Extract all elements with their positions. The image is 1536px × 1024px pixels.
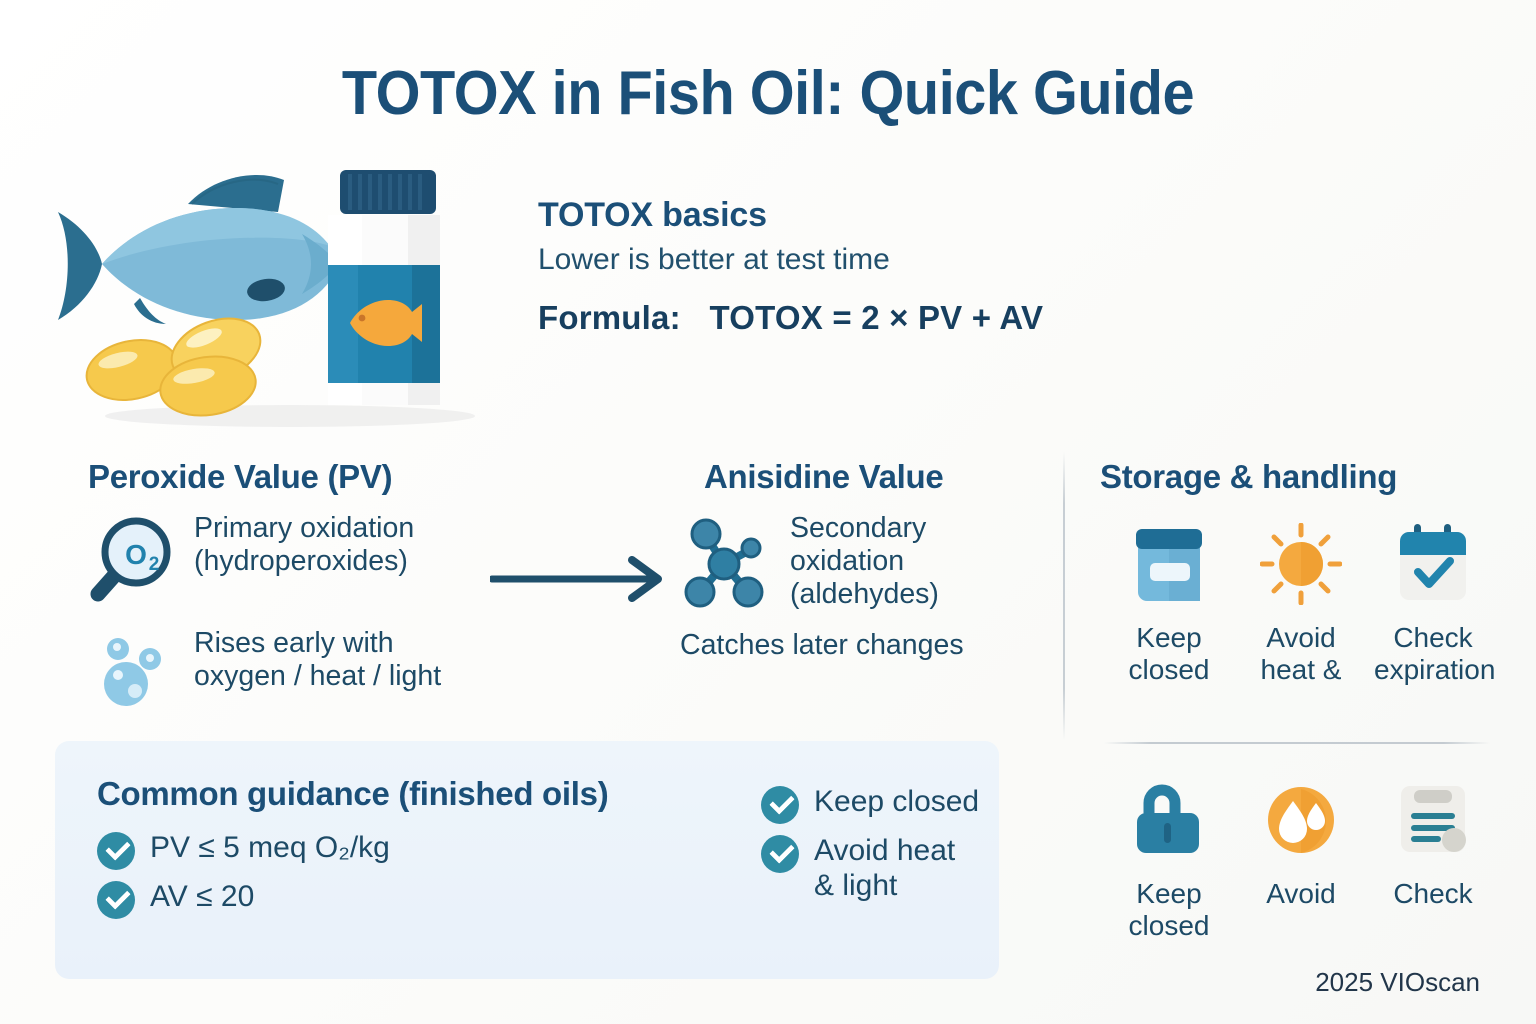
water-drops-icon bbox=[1242, 768, 1360, 872]
storage-item-avoid-moisture: Avoid bbox=[1242, 768, 1360, 942]
check-circle-icon bbox=[761, 835, 799, 873]
formula-expression: TOTOX = 2 × PV + AV bbox=[710, 299, 1044, 336]
softgel-capsules-graphic bbox=[81, 307, 269, 421]
storage-item-check-expiration: Check expiration bbox=[1374, 512, 1492, 686]
av-secondary-oxidation-text: Secondary oxidation (aldehydes) bbox=[790, 512, 939, 611]
guidance-left-list: PV ≤ 5 meq O₂/kg AV ≤ 20 bbox=[97, 829, 390, 927]
lock-icon bbox=[1110, 768, 1228, 872]
pv-text-line1: Primary oxidation bbox=[194, 512, 414, 544]
document-seal-icon bbox=[1374, 768, 1492, 872]
pv-text-line2: (hydroperoxides) bbox=[194, 545, 408, 577]
sun-icon bbox=[1242, 512, 1360, 616]
pv-rises-line2: oxygen / heat / light bbox=[194, 660, 441, 692]
storage-item-keep-closed: Keep closed bbox=[1110, 512, 1228, 686]
guidance-item-avoid-heat-light: Avoid heat & light bbox=[761, 832, 979, 904]
basics-heading: TOTOX basics bbox=[538, 196, 1138, 235]
pv-primary-oxidation-text: Primary oxidation (hydroperoxides) bbox=[194, 512, 414, 578]
formula-line: Formula: TOTOX = 2 × PV + AV bbox=[538, 299, 1138, 337]
pv-row-rises-early: Rises early with oxygen / heat / light bbox=[88, 627, 488, 712]
av-text-line1: Secondary bbox=[790, 512, 926, 544]
storage-item-label: Avoid heat & bbox=[1242, 622, 1360, 686]
guidance-heading: Common guidance (finished oils) bbox=[97, 775, 608, 813]
anisidine-value-column: Anisidine Value Se bbox=[680, 458, 1040, 662]
pv-rises-early-text: Rises early with oxygen / heat / light bbox=[194, 627, 441, 693]
storage-item-label: Keep closed bbox=[1110, 622, 1228, 686]
svg-text:2: 2 bbox=[149, 554, 160, 575]
svg-text:O: O bbox=[125, 539, 147, 570]
molecule-icon bbox=[680, 512, 776, 617]
flow-arrow-pv-to-av bbox=[490, 556, 670, 602]
av-caption: Catches later changes bbox=[680, 629, 1040, 662]
storage-handling-column: Storage & handling Keep closed bbox=[1100, 458, 1500, 686]
bubbles-icon bbox=[88, 627, 180, 712]
check-circle-icon bbox=[761, 786, 799, 824]
calendar-check-icon bbox=[1374, 512, 1492, 616]
page-title: TOTOX in Fish Oil: Quick Guide bbox=[54, 58, 1482, 129]
guidance-item-text: PV ≤ 5 meq O₂/kg bbox=[150, 829, 390, 866]
check-circle-icon bbox=[97, 881, 135, 919]
storage-item-label: Check expiration bbox=[1374, 622, 1492, 686]
av-row-secondary-oxidation: Secondary oxidation (aldehydes) bbox=[680, 512, 1040, 617]
storage-icon-row-1: Keep closed bbox=[1110, 512, 1500, 686]
guidance-item-text: Avoid heat & light bbox=[814, 832, 955, 904]
guidance-item-av: AV ≤ 20 bbox=[97, 878, 390, 919]
formula-label: Formula: bbox=[538, 299, 681, 336]
storage-divider-horizontal bbox=[1104, 742, 1490, 744]
container-icon bbox=[1110, 512, 1228, 616]
pv-row-primary-oxidation: O 2 Primary oxidation (hydroperoxides) bbox=[88, 512, 488, 609]
storage-handling-heading: Storage & handling bbox=[1100, 458, 1500, 496]
storage-icon-row-2: Keep closed Avoid bbox=[1110, 768, 1492, 942]
footer-credit: 2025 VIOscan bbox=[1315, 967, 1480, 998]
guidance-item-pv: PV ≤ 5 meq O₂/kg bbox=[97, 829, 390, 870]
basics-subtitle: Lower is better at test time bbox=[538, 243, 1138, 277]
infographic-canvas: TOTOX in Fish Oil: Quick Guide bbox=[0, 0, 1536, 1024]
peroxide-value-column: Peroxide Value (PV) O 2 Primary oxidatio… bbox=[88, 458, 488, 712]
fish-oil-illustration-svg bbox=[40, 160, 530, 430]
guidance-item-keep-closed: Keep closed bbox=[761, 783, 979, 824]
magnifier-o2-icon: O 2 bbox=[88, 512, 180, 609]
guidance-item-text: Keep closed bbox=[814, 783, 979, 820]
storage-item-avoid-heat: Avoid heat & bbox=[1242, 512, 1360, 686]
totox-basics-block: TOTOX basics Lower is better at test tim… bbox=[538, 196, 1138, 337]
pv-rises-line1: Rises early with bbox=[194, 627, 394, 659]
guidance-item-text: AV ≤ 20 bbox=[150, 878, 254, 915]
av-text-line2: oxidation bbox=[790, 545, 904, 577]
guidance-right-list: Keep closed Avoid heat & light bbox=[761, 783, 979, 912]
storage-item-label: Check bbox=[1374, 878, 1492, 910]
common-guidance-panel: Common guidance (finished oils) PV ≤ 5 m… bbox=[55, 741, 999, 979]
storage-item-keep-closed-lock: Keep closed bbox=[1110, 768, 1228, 942]
storage-item-check-document: Check bbox=[1374, 768, 1492, 942]
check-circle-icon bbox=[97, 832, 135, 870]
storage-item-label: Keep closed bbox=[1110, 878, 1228, 942]
av-text-line3: (aldehydes) bbox=[790, 578, 939, 610]
fish-oil-illustration bbox=[40, 160, 530, 430]
supplement-bottle-graphic bbox=[328, 170, 440, 405]
fish-graphic bbox=[58, 175, 340, 324]
storage-item-label: Avoid bbox=[1242, 878, 1360, 910]
peroxide-value-heading: Peroxide Value (PV) bbox=[88, 458, 488, 496]
column-divider-vertical bbox=[1063, 452, 1065, 740]
anisidine-value-heading: Anisidine Value bbox=[704, 458, 1040, 496]
